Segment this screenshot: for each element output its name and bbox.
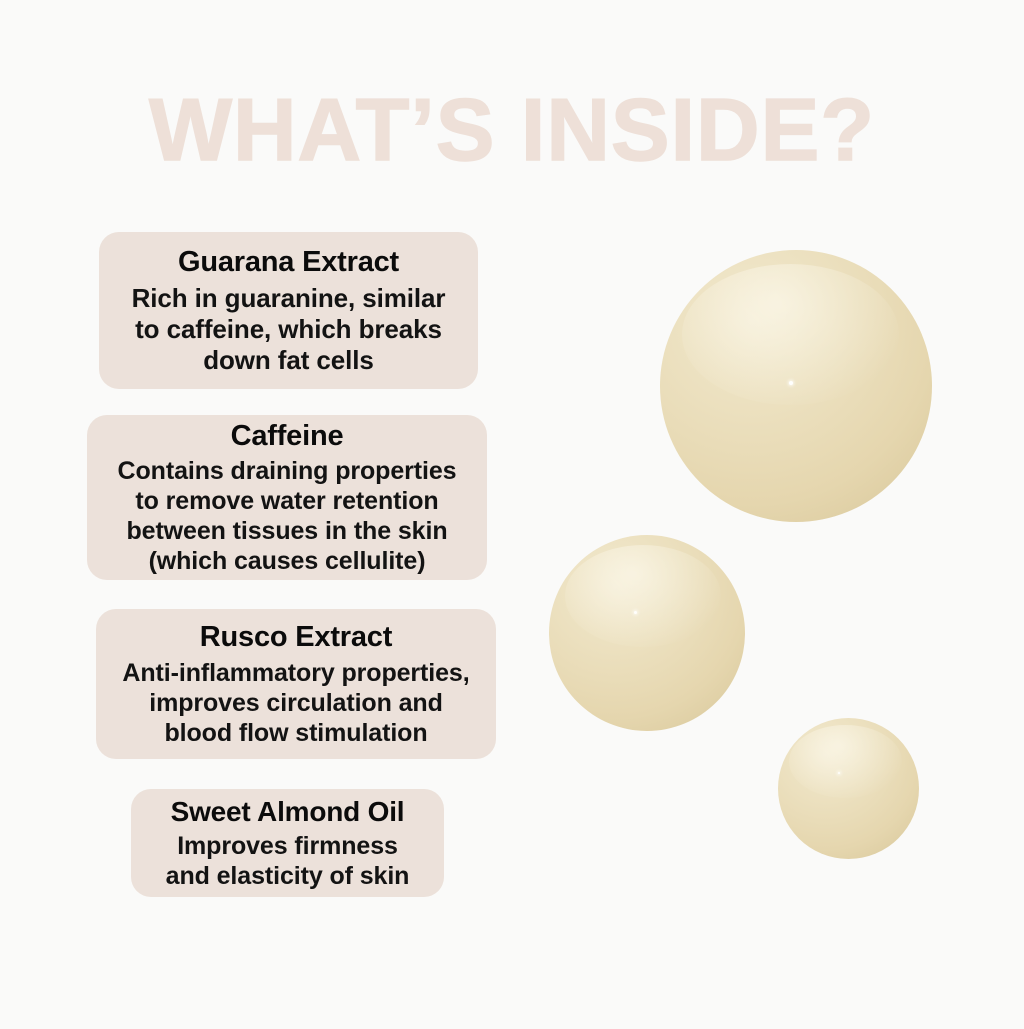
- medium-cream-droplet: [549, 535, 745, 731]
- page-title: WHAT’S INSIDE?: [0, 82, 1024, 178]
- ingredient-description: Improves firmness and elasticity of skin: [166, 831, 410, 891]
- ingredient-description: Rich in guaranine, similar to caffeine, …: [132, 283, 446, 376]
- highlight-dot: [634, 611, 637, 614]
- highlight-dot: [838, 772, 840, 774]
- large-cream-droplet: [660, 250, 932, 522]
- ingredient-description: Anti-inflammatory properties, improves c…: [122, 658, 469, 748]
- ingredient-name: Caffeine: [231, 418, 344, 455]
- ingredient-name: Sweet Almond Oil: [171, 794, 405, 830]
- ingredient-card-guarana-extract: Guarana Extract Rich in guaranine, simil…: [99, 232, 478, 389]
- ingredient-card-sweet-almond-oil: Sweet Almond Oil Improves firmness and e…: [131, 789, 444, 897]
- small-cream-droplet: [778, 718, 919, 859]
- whats-inside-poster: WHAT’S INSIDE? Guarana Extract Rich in g…: [0, 0, 1024, 1029]
- highlight-dot: [789, 381, 793, 385]
- ingredient-name: Guarana Extract: [178, 243, 399, 281]
- ingredient-name: Rusco Extract: [200, 618, 392, 656]
- ingredient-card-caffeine: Caffeine Contains draining properties to…: [87, 415, 487, 580]
- ingredient-description: Contains draining properties to remove w…: [118, 456, 457, 576]
- ingredient-card-rusco-extract: Rusco Extract Anti-inflammatory properti…: [96, 609, 496, 759]
